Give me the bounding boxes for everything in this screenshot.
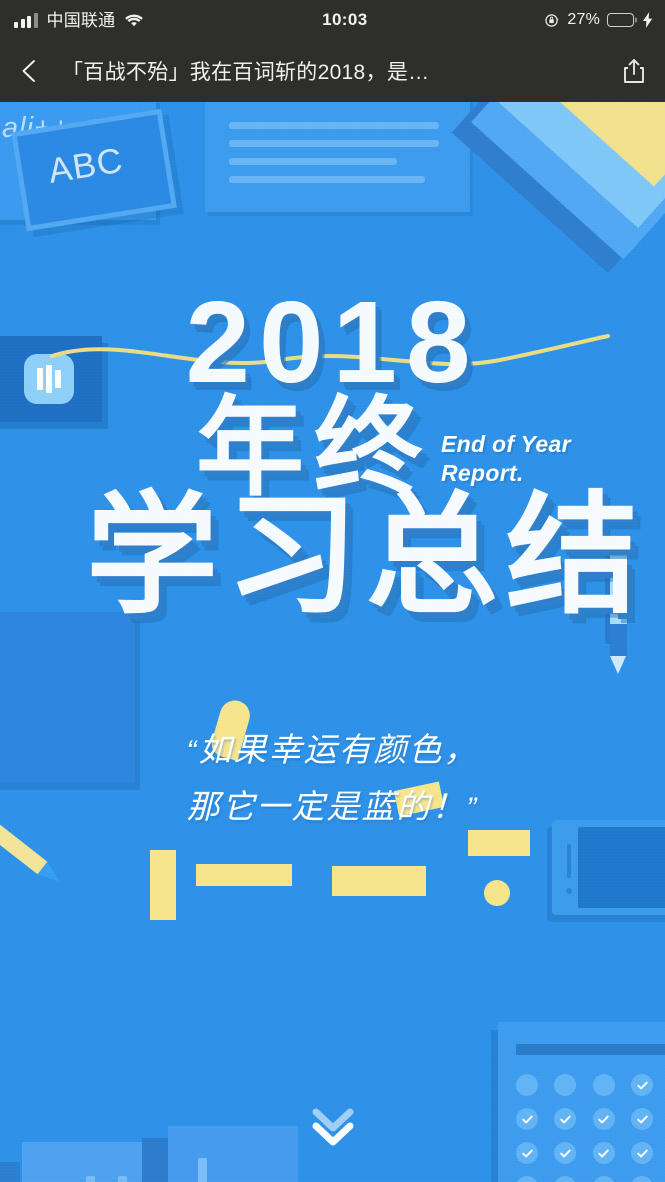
chinese-heading-line-2: 学习总结 — [86, 490, 646, 622]
english-subtitle: End of Year Report. — [441, 430, 571, 488]
double-chevron-down-icon — [302, 1100, 364, 1152]
back-arrow-icon — [17, 57, 45, 85]
quote-close-mark: ” — [467, 792, 479, 825]
share-icon — [621, 57, 647, 85]
quote-line-1-wrapper: “如果幸运有颜色， — [0, 722, 665, 779]
battery-icon — [607, 13, 634, 27]
poster-canvas[interactable]: ali++ ABC — [0, 102, 665, 1182]
hero-content: 2018 年终 学习总结 End of Year Report. “如果幸运有颜… — [0, 102, 665, 1182]
navigation-bar: 「百战不殆」我在百词斩的2018，是… — [0, 40, 665, 102]
quote-open-mark: “ — [187, 735, 199, 768]
quote-line-2-wrapper: 那它一定是蓝的！” — [0, 779, 665, 836]
rotation-lock-icon — [545, 13, 560, 28]
page-title: 「百战不殆」我在百词斩的2018，是… — [62, 56, 603, 86]
signal-bars-icon — [14, 13, 38, 28]
english-subtitle-line-2: Report. — [441, 459, 571, 488]
share-button[interactable] — [603, 40, 665, 102]
lightning-bolt-icon — [641, 12, 653, 28]
poster-quote: “如果幸运有颜色， 那它一定是蓝的！” — [0, 722, 665, 836]
wifi-icon — [124, 13, 144, 28]
quote-line-2: 那它一定是蓝的！ — [187, 788, 467, 825]
quote-line-1: 如果幸运有颜色， — [199, 731, 479, 768]
status-bar-left: 中国联通 — [0, 12, 144, 29]
english-subtitle-line-1: End of Year — [441, 430, 571, 459]
status-bar-time: 10:03 — [144, 10, 545, 30]
status-bar-right: 27% — [545, 11, 665, 29]
back-button[interactable] — [0, 40, 62, 102]
scroll-down-button[interactable] — [0, 1100, 665, 1152]
carrier-label: 中国联通 — [47, 12, 116, 29]
year-label: 2018 — [185, 284, 479, 400]
phone-screen: 中国联通 10:03 27% — [0, 0, 665, 1182]
battery-percent-label: 27% — [567, 11, 600, 29]
status-bar: 中国联通 10:03 27% — [0, 0, 665, 40]
